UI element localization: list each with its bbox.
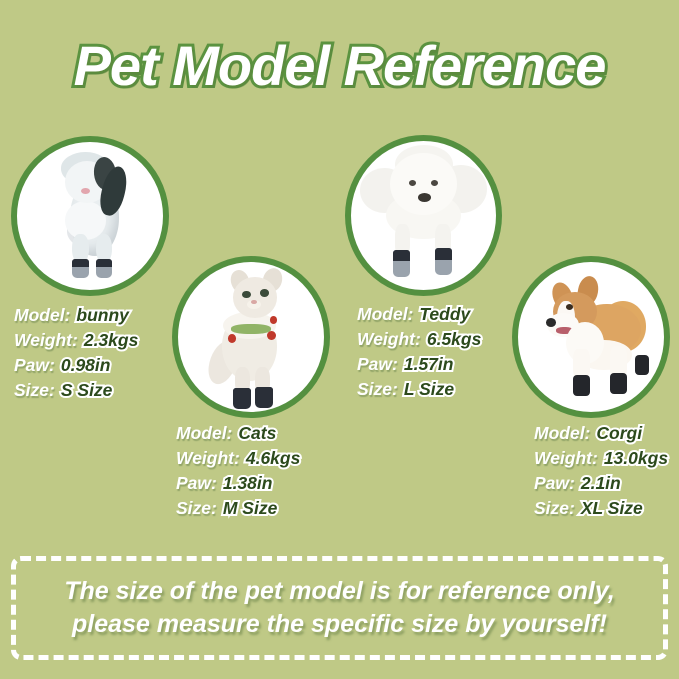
model-value: bunny bbox=[76, 305, 129, 325]
corgi-boot-front bbox=[573, 375, 589, 396]
page-title: Pet Model Reference bbox=[0, 33, 679, 98]
teddy-nose bbox=[418, 193, 431, 202]
teddy-head bbox=[390, 153, 457, 216]
size-value: S Size bbox=[61, 380, 113, 400]
cat-nose bbox=[251, 300, 257, 305]
size-value: XL Size bbox=[581, 498, 643, 518]
weight-label: Weight: bbox=[534, 448, 598, 468]
info-row-size: Size:M Size bbox=[176, 496, 300, 521]
pet-info-corgi: Model:Corgi Weight:13.0kgs Paw:2.1in Siz… bbox=[534, 421, 668, 521]
cat-boot-right bbox=[255, 387, 273, 408]
paw-value: 1.38in bbox=[223, 473, 273, 493]
corgi-nose bbox=[546, 318, 556, 327]
paw-label: Paw: bbox=[534, 473, 575, 493]
cat-collar bbox=[231, 324, 272, 335]
teddy-eye-right bbox=[431, 180, 438, 186]
model-label: Model: bbox=[534, 423, 590, 443]
cat-bell-3 bbox=[270, 316, 277, 324]
size-value: L Size bbox=[404, 379, 454, 399]
model-value: Teddy bbox=[419, 304, 470, 324]
paw-label: Paw: bbox=[176, 473, 217, 493]
paw-value: 2.1in bbox=[581, 473, 621, 493]
corgi-boot-rear bbox=[635, 355, 650, 375]
corgi-boot-back bbox=[610, 373, 628, 394]
info-row-paw: Paw:2.1in bbox=[534, 471, 668, 496]
teddy-boot-right bbox=[435, 248, 452, 275]
info-row-weight: Weight:13.0kgs bbox=[534, 446, 668, 471]
disclaimer-line-1: The size of the pet model is for referen… bbox=[64, 575, 615, 608]
info-row-model: Model:Corgi bbox=[534, 421, 668, 446]
info-row-model: Model:Teddy bbox=[357, 302, 481, 327]
teddy-eye-left bbox=[409, 180, 416, 186]
pet-info-teddy: Model:Teddy Weight:6.5kgs Paw:1.57in Siz… bbox=[357, 302, 481, 402]
disclaimer-box: The size of the pet model is for referen… bbox=[11, 556, 668, 660]
paw-label: Paw: bbox=[14, 355, 55, 375]
cat-bell-2 bbox=[267, 331, 276, 340]
cat-eye-left bbox=[242, 291, 251, 299]
teddy-illustration bbox=[351, 141, 496, 290]
info-row-size: Size:L Size bbox=[357, 377, 481, 402]
info-row-paw: Paw:1.38in bbox=[176, 471, 300, 496]
size-label: Size: bbox=[14, 380, 55, 400]
weight-value: 6.5kgs bbox=[427, 329, 481, 349]
info-row-weight: Weight:4.6kgs bbox=[176, 446, 300, 471]
weight-label: Weight: bbox=[14, 330, 78, 350]
bunny-nose bbox=[81, 188, 90, 194]
info-row-paw: Paw:1.57in bbox=[357, 352, 481, 377]
pet-photo-bunny bbox=[11, 136, 169, 296]
pet-info-cats: Model:Cats Weight:4.6kgs Paw:1.38in Size… bbox=[176, 421, 300, 521]
info-row-weight: Weight:6.5kgs bbox=[357, 327, 481, 352]
model-label: Model: bbox=[14, 305, 70, 325]
cat-eye-right bbox=[260, 289, 269, 297]
size-label: Size: bbox=[357, 379, 398, 399]
paw-label: Paw: bbox=[357, 354, 398, 374]
teddy-boot-left bbox=[393, 250, 410, 277]
cat-boot-left bbox=[233, 388, 251, 409]
info-row-paw: Paw:0.98in bbox=[14, 353, 138, 378]
cat-illustration bbox=[178, 262, 324, 412]
info-row-size: Size:XL Size bbox=[534, 496, 668, 521]
bunny-boot-left bbox=[72, 259, 88, 278]
info-row-weight: Weight:2.3kgs bbox=[14, 328, 138, 353]
paw-value: 0.98in bbox=[61, 355, 111, 375]
weight-value: 4.6kgs bbox=[246, 448, 300, 468]
bunny-illustration bbox=[17, 142, 163, 290]
weight-label: Weight: bbox=[357, 329, 421, 349]
paw-value: 1.57in bbox=[404, 354, 454, 374]
pet-model-reference-poster: Pet Model Reference bbox=[0, 0, 679, 679]
pet-photo-teddy bbox=[345, 135, 502, 296]
info-row-model: Model:Cats bbox=[176, 421, 300, 446]
model-label: Model: bbox=[176, 423, 232, 443]
weight-label: Weight: bbox=[176, 448, 240, 468]
pet-info-bunny: Model:bunny Weight:2.3kgs Paw:0.98in Siz… bbox=[14, 303, 138, 403]
cat-head bbox=[233, 277, 277, 318]
size-label: Size: bbox=[176, 498, 217, 518]
weight-value: 13.0kgs bbox=[604, 448, 668, 468]
pet-photo-cats bbox=[172, 256, 330, 418]
disclaimer-line-2: please measure the specific size by your… bbox=[72, 608, 607, 641]
model-label: Model: bbox=[357, 304, 413, 324]
size-label: Size: bbox=[534, 498, 575, 518]
info-row-model: Model:bunny bbox=[14, 303, 138, 328]
model-value: Corgi bbox=[596, 423, 642, 443]
model-value: Cats bbox=[238, 423, 276, 443]
info-row-size: Size:S Size bbox=[14, 378, 138, 403]
pet-photo-corgi bbox=[512, 256, 670, 418]
corgi-illustration bbox=[518, 262, 664, 412]
bunny-boot-right bbox=[96, 259, 112, 278]
weight-value: 2.3kgs bbox=[84, 330, 138, 350]
size-value: M Size bbox=[223, 498, 277, 518]
